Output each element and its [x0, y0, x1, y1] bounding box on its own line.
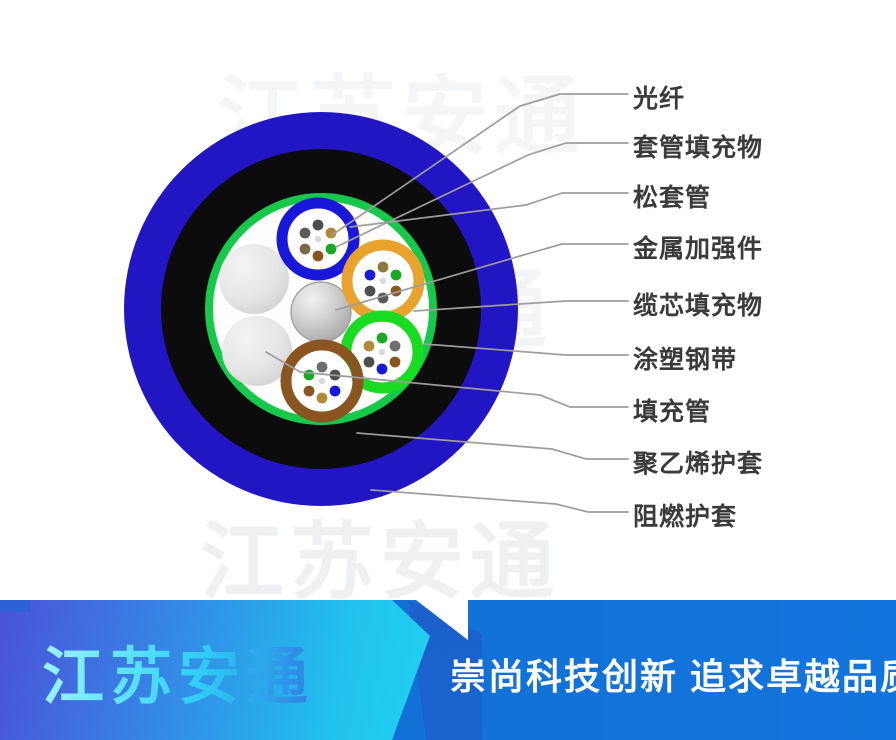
optical-fiber	[304, 370, 315, 381]
optical-fiber	[390, 357, 401, 368]
loose-tube-brown	[286, 345, 358, 417]
optical-fiber	[377, 333, 388, 344]
diagram-area: 江苏安通 江苏安通 江苏安通	[0, 0, 896, 600]
bottom-banner: 江苏安通 崇尚科技创新 追求卓越品质	[0, 600, 896, 740]
company-logo-text: 江苏安通	[42, 626, 314, 716]
optical-fiber	[390, 341, 401, 352]
company-slogan: 崇尚科技创新 追求卓越品质	[450, 648, 896, 700]
metal-strength-member	[291, 282, 351, 342]
callout-label-fr-sheath: 阻燃护套	[633, 497, 737, 533]
optical-fiber	[317, 362, 328, 373]
cable-structure-infographic: 江苏安通 江苏安通 江苏安通	[0, 0, 896, 740]
optical-fiber	[317, 393, 328, 404]
optical-fiber	[326, 244, 337, 255]
callout-label-pe-sheath: 聚乙烯护套	[633, 444, 763, 480]
callout-label-steel-tape: 涂塑钢带	[633, 340, 737, 376]
leader-fr-sheath	[371, 490, 628, 512]
optical-fiber	[330, 386, 341, 397]
callout-label-strength-member: 金属加强件	[633, 229, 763, 265]
optical-fiber	[365, 270, 376, 281]
callout-label-filler-rod: 填充管	[633, 392, 711, 428]
optical-fiber	[313, 220, 324, 231]
optical-fiber	[378, 262, 389, 273]
optical-fiber	[365, 286, 376, 297]
callout-label-loose-tube: 松套管	[633, 178, 711, 214]
callout-label-tube-filling: 套管填充物	[633, 128, 763, 164]
loose-tube-blue	[282, 203, 354, 275]
callout-label-optical-fiber: 光纤	[633, 79, 685, 115]
optical-fiber	[391, 270, 402, 281]
filler-rod-upper-left	[219, 244, 289, 314]
optical-fiber	[364, 341, 375, 352]
optical-fiber	[304, 386, 315, 397]
loose-tube-orange	[347, 245, 419, 317]
optical-fiber	[300, 228, 311, 239]
banner-top-stub	[0, 600, 30, 612]
optical-fiber	[377, 364, 388, 375]
callout-label-core-filling: 缆芯填充物	[633, 286, 763, 322]
optical-fiber	[313, 251, 324, 262]
optical-fiber	[364, 357, 375, 368]
optical-fiber	[300, 244, 311, 255]
